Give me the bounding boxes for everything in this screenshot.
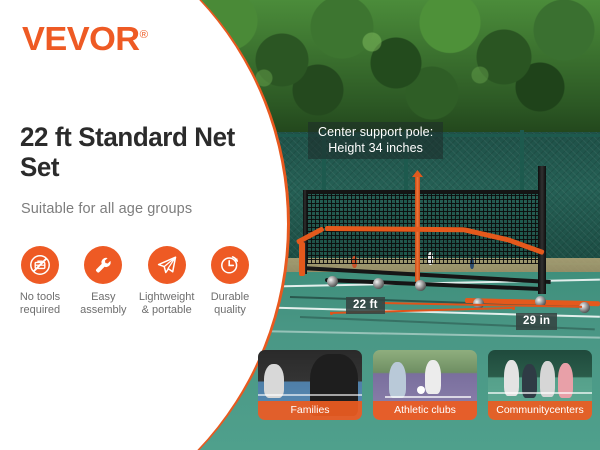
use-case-thumbnail-strip: Families Athletic clubs Communitycenters [258, 350, 594, 420]
feature-label: No tools required [10, 291, 70, 317]
net-line [258, 394, 362, 396]
wheel [415, 280, 426, 291]
dimension-label-height: 29 in [516, 313, 557, 330]
feature-item-no-tools: No tools required [10, 246, 70, 317]
clock-arrow-icon [211, 246, 249, 284]
person-silhouette [504, 360, 519, 396]
wrench-icon [84, 246, 122, 284]
feature-label-line1: No tools [20, 291, 60, 303]
feature-label-line1: Durable [211, 291, 250, 303]
wheel [327, 276, 338, 287]
feature-label: Lightweight & portable [137, 291, 197, 317]
net-top-tape [303, 190, 543, 194]
no-tools-icon [21, 246, 59, 284]
person-silhouette [264, 364, 284, 398]
feature-label-line2: quality [214, 304, 246, 316]
page-subtitle: Suitable for all age groups [21, 201, 192, 217]
product-poster: Center support pole: Height 34 inches 22… [0, 0, 600, 450]
callout-center-pole: Center support pole: Height 34 inches [308, 122, 443, 159]
net-post-right [538, 166, 546, 294]
net-line [488, 392, 592, 394]
use-case-caption: Athletic clubs [373, 401, 477, 420]
registered-trademark-icon: ® [140, 29, 148, 41]
feature-label-line1: Easy [91, 291, 115, 303]
dimension-endpoint [330, 312, 333, 315]
net-line [385, 396, 471, 398]
feature-label: Durable quality [200, 291, 260, 317]
left-content-column: VEVOR® 22 ft Standard Net Set Suitable f… [0, 0, 270, 450]
use-case-card-community-centers[interactable]: Communitycenters [488, 350, 592, 420]
paper-plane-icon [148, 246, 186, 284]
feature-item-lightweight: Lightweight & portable [137, 246, 197, 317]
feature-label-line2: assembly [80, 304, 126, 316]
dimension-endpoint [512, 307, 515, 310]
wheel [373, 278, 384, 289]
person-silhouette [389, 362, 406, 398]
feature-label-line2: & portable [142, 304, 192, 316]
feature-item-easy-assembly: Easy assembly [73, 246, 133, 317]
feature-label-line2: required [20, 304, 60, 316]
feature-list: No tools required Easy assembly [10, 246, 260, 317]
feature-item-durable: Durable quality [200, 246, 260, 317]
center-pole-cap [412, 170, 423, 177]
portable-net-assembly [295, 170, 600, 315]
brand-logo-text: VEVOR [22, 20, 140, 57]
callout-line-2: Height 34 inches [318, 140, 433, 156]
callout-line-1: Center support pole: [318, 124, 433, 140]
brand-logo: VEVOR® [22, 20, 147, 58]
use-case-card-athletic-clubs[interactable]: Athletic clubs [373, 350, 477, 420]
person-silhouette [425, 360, 441, 394]
page-title: 22 ft Standard Net Set [20, 122, 241, 182]
dimension-label-width: 22 ft [346, 297, 385, 314]
use-case-caption: Communitycenters [488, 401, 592, 420]
pickleball [417, 386, 425, 394]
use-case-card-families[interactable]: Families [258, 350, 362, 420]
feature-label: Easy assembly [73, 291, 133, 317]
use-case-caption: Families [258, 401, 362, 420]
frame-leg [299, 242, 305, 276]
feature-label-line1: Lightweight [139, 291, 195, 303]
